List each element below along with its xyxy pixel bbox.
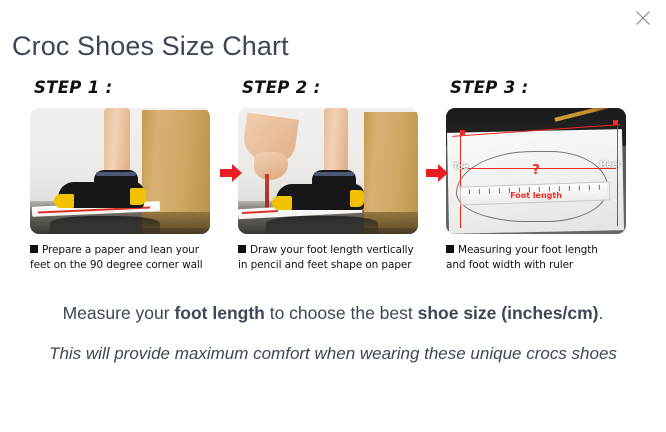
close-button[interactable] (630, 5, 656, 31)
step-2-image (238, 108, 418, 234)
step-3-label: STEP 3 : (450, 78, 632, 102)
lead-bold-shoe-size: shoe size (inches/cm) (418, 303, 599, 323)
step-2-caption-line1: Draw your foot length vertically (250, 244, 414, 256)
lead-text-2: to choose the best (265, 303, 418, 323)
arrow-right-icon-2 (426, 164, 448, 182)
step-3-caption-line1: Measuring your foot length (458, 244, 598, 256)
lead-bold-foot-length: foot length (174, 303, 264, 323)
toe-annotation: Toe (453, 162, 468, 171)
step-2: STEP 2 : (238, 78, 424, 273)
step-2-caption-line2: in pencil and feet shape on paper (238, 259, 411, 271)
close-icon (634, 9, 652, 27)
steps-strip: STEP 1 : Prepare a paper and lean your f… (0, 78, 666, 293)
lead-text-1: Measure your (63, 303, 175, 323)
step-2-label: STEP 2 : (242, 78, 424, 102)
bullet-icon (30, 245, 38, 253)
bullet-icon (238, 245, 246, 253)
step-1-label: STEP 1 : (34, 78, 216, 102)
lead-paragraph: Measure your foot length to choose the b… (0, 300, 666, 326)
step-3-image: Toe Heel ? Foot length (446, 108, 626, 234)
step-3-caption-line2: and foot width with ruler (446, 259, 573, 271)
footer-copy: Measure your foot length to choose the b… (0, 300, 666, 368)
foot-length-annotation: Foot length (510, 191, 562, 200)
step-1-caption: Prepare a paper and lean your feet on th… (30, 243, 216, 273)
heel-annotation: Heel (600, 160, 620, 169)
arrow-right-icon-1 (220, 164, 242, 182)
step-3-caption: Measuring your foot length and foot widt… (446, 243, 632, 273)
lead-text-3: . (599, 303, 604, 323)
bullet-icon (446, 245, 454, 253)
step-1-image (30, 108, 210, 234)
size-chart-modal: Croc Shoes Size Chart STEP 1 : (0, 0, 666, 432)
step-1: STEP 1 : Prepare a paper and lean your f… (30, 78, 216, 273)
step-2-caption: Draw your foot length vertically in penc… (238, 243, 424, 273)
step-3: STEP 3 : (446, 78, 632, 273)
sub-paragraph: This will provide maximum comfort when w… (0, 340, 666, 368)
page-title: Croc Shoes Size Chart (12, 28, 289, 64)
step-1-caption-line1: Prepare a paper and lean your (42, 244, 199, 256)
question-annotation: ? (532, 163, 540, 178)
step-1-caption-line2: feet on the 90 degree corner wall (30, 259, 203, 271)
